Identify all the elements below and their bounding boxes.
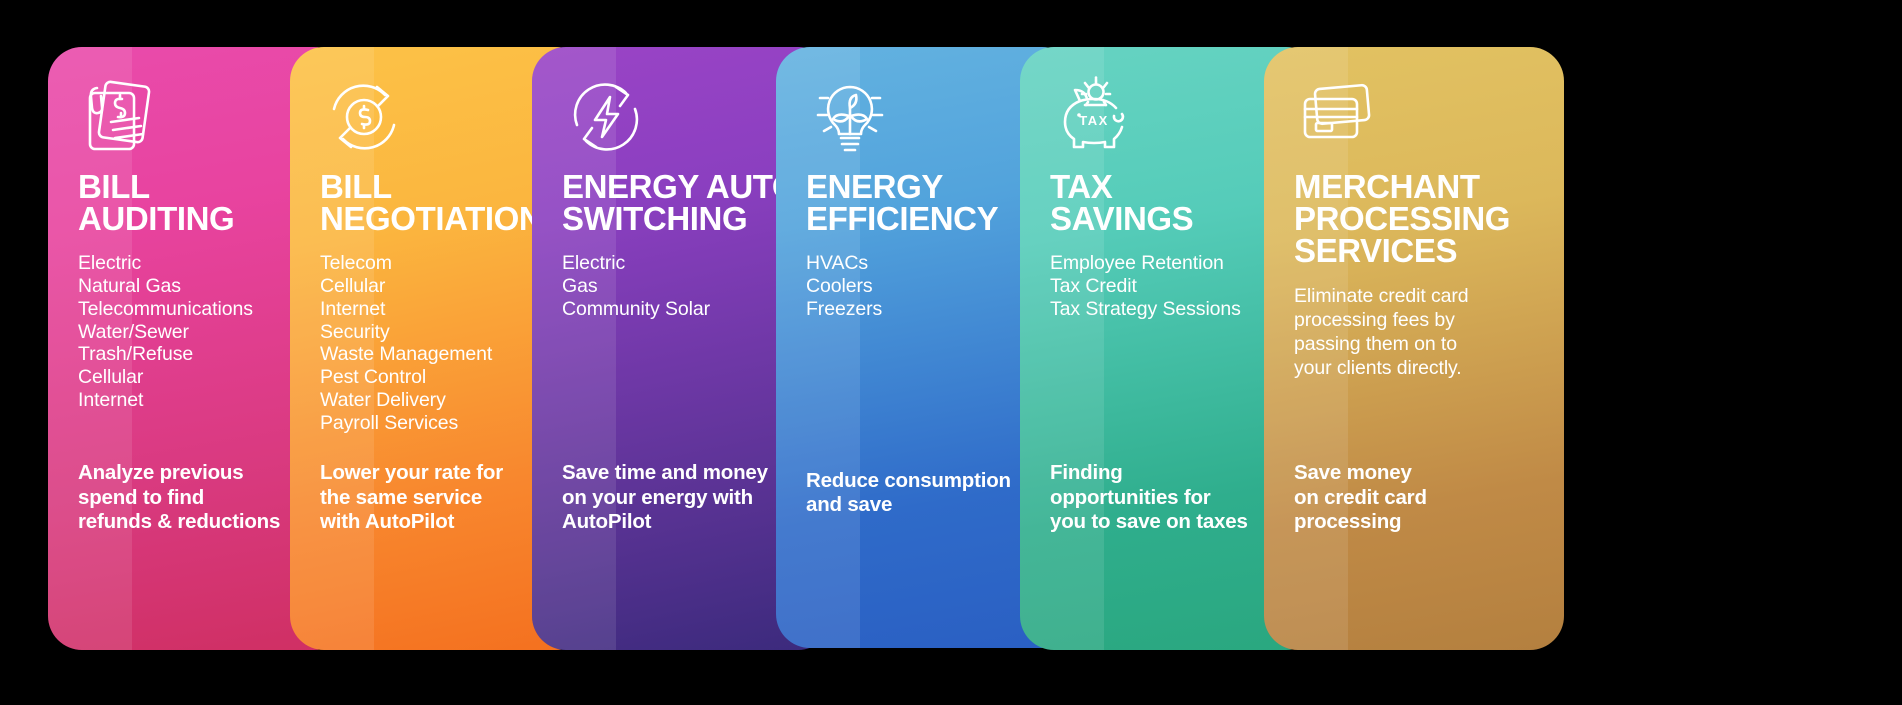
list-item: Cellular (320, 276, 562, 297)
list-item: Security (320, 322, 562, 343)
card-title: ENERGY AUTO SWITCHING (562, 171, 804, 235)
services-card-rail: BILL AUDITING Electric Natural Gas Telec… (0, 0, 1902, 705)
list-item: Trash/Refuse (78, 344, 320, 365)
list-item: Waste Management (320, 344, 562, 365)
list-item: Telecommunications (78, 299, 320, 320)
card-service-list: Employee Retention Tax Credit Tax Strate… (1050, 253, 1292, 320)
refresh-bolt-icon (564, 75, 804, 171)
list-item: Internet (78, 390, 320, 411)
list-item: Water Delivery (320, 390, 562, 411)
card-service-list: HVACs Coolers Freezers (806, 253, 1048, 320)
card-service-list: Telecom Cellular Internet Security Waste… (320, 253, 562, 434)
invoice-dollar-icon (80, 75, 320, 171)
list-item: Tax Credit (1050, 276, 1292, 297)
piggy-bank-tax-icon: TAX (1052, 75, 1292, 171)
service-card-merchant-processing-services[interactable]: MERCHANT PROCESSING SERVICES Eliminate c… (1264, 47, 1564, 650)
svg-text:TAX: TAX (1079, 113, 1109, 128)
credit-cards-icon (1296, 75, 1536, 171)
card-footer-text: Save time and money on your energy with … (562, 461, 812, 534)
list-item: Gas (562, 276, 804, 297)
list-item: Coolers (806, 276, 1048, 297)
list-item: Employee Retention (1050, 253, 1292, 274)
list-item: Freezers (806, 299, 1048, 320)
list-item: Community Solar (562, 299, 804, 320)
list-item: HVACs (806, 253, 1048, 274)
card-footer-text: Reduce consumption and save (806, 469, 1056, 517)
card-title: BILL AUDITING (78, 171, 320, 235)
list-item: Water/Sewer (78, 322, 320, 343)
list-item: Pest Control (320, 367, 562, 388)
list-item: Cellular (78, 367, 320, 388)
list-item: Tax Strategy Sessions (1050, 299, 1292, 320)
list-item: Telecom (320, 253, 562, 274)
list-item: Internet (320, 299, 562, 320)
list-item: Natural Gas (78, 276, 320, 297)
list-item: Payroll Services (320, 413, 562, 434)
card-title: ENERGY EFFICIENCY (806, 171, 1048, 235)
card-blurb: Eliminate credit card processing fees by… (1294, 285, 1536, 381)
card-service-list: Electric Natural Gas Telecommunications … (78, 253, 320, 411)
card-title: TAX SAVINGS (1050, 171, 1292, 235)
lightbulb-leaf-icon (808, 75, 1048, 171)
card-service-list: Electric Gas Community Solar (562, 253, 804, 320)
card-footer-text: Finding opportunities for you to save on… (1050, 461, 1300, 534)
card-title: MERCHANT PROCESSING SERVICES (1294, 171, 1536, 267)
card-title: BILL NEGOTIATION (320, 171, 562, 235)
list-item: Electric (78, 253, 320, 274)
refresh-dollar-icon (322, 75, 562, 171)
card-footer-text: Save money on credit card processing (1294, 461, 1544, 534)
list-item: Electric (562, 253, 804, 274)
